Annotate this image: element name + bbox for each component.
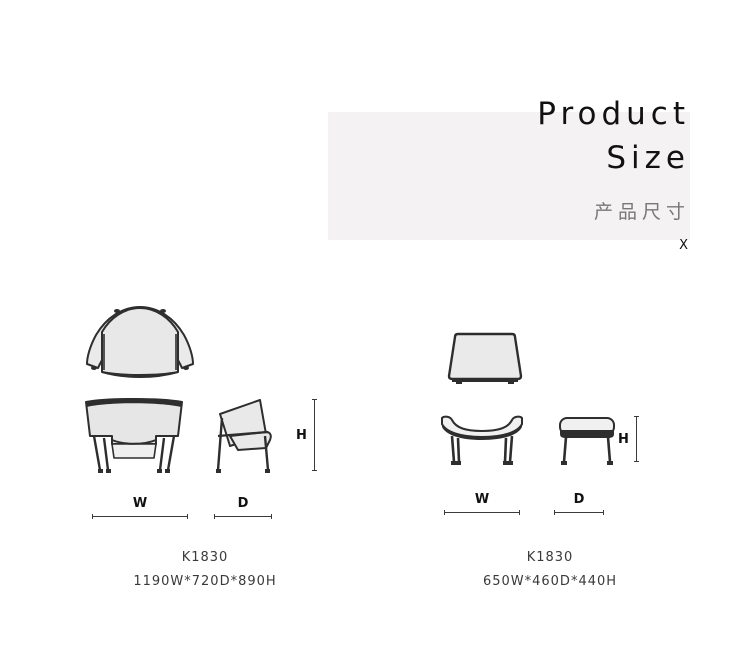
product-block-ottoman-stool: H W D K1830 650W*460D*440H bbox=[430, 300, 670, 510]
lounge-chair-dimensions-text: 1190W*720D*890H bbox=[70, 570, 340, 594]
ottoman-stool-front-view bbox=[436, 412, 528, 468]
ottoman-stool-caption: K1830 650W*460D*440H bbox=[430, 546, 670, 594]
lounge-chair-side-view bbox=[208, 396, 280, 476]
header-text-block: Product Size 产品尺寸 X bbox=[300, 92, 692, 256]
lounge-chair-height-label: H bbox=[296, 428, 307, 443]
page-subtitle-mark: X bbox=[300, 236, 692, 256]
ottoman-stool-width-line bbox=[444, 512, 520, 513]
ottoman-stool-height-label: H bbox=[618, 432, 629, 447]
lounge-chair-width-label: W bbox=[92, 496, 188, 511]
ottoman-stool-height-line bbox=[636, 416, 637, 462]
lounge-chair-model-code: K1830 bbox=[70, 546, 340, 570]
ottoman-stool-front-view-svg bbox=[436, 412, 528, 468]
ottoman-stool-height-dimension: H bbox=[618, 415, 637, 463]
lounge-chair-front-view-svg bbox=[78, 396, 190, 476]
ottoman-stool-views: H bbox=[430, 300, 670, 510]
ottoman-stool-side-view-svg bbox=[552, 412, 622, 468]
ottoman-stool-depth-line bbox=[554, 512, 604, 513]
ottoman-stool-side-view bbox=[552, 412, 622, 468]
lounge-chair-depth-dimension: D bbox=[214, 496, 272, 517]
lounge-chair-width-dimension: W bbox=[92, 496, 188, 517]
lounge-chair-front-view bbox=[78, 396, 190, 476]
ottoman-stool-top-view bbox=[442, 330, 528, 386]
lounge-chair-views: H bbox=[70, 300, 340, 510]
page-title-line-2: Size bbox=[300, 136, 692, 180]
ottoman-stool-depth-dimension: D bbox=[554, 492, 604, 513]
ottoman-stool-dimensions-text: 650W*460D*440H bbox=[430, 570, 670, 594]
ottoman-stool-top-view-svg bbox=[442, 330, 528, 386]
lounge-chair-height-dimension: H bbox=[296, 398, 315, 472]
page-title-line-1: Product bbox=[300, 92, 692, 136]
lounge-chair-caption: K1830 1190W*720D*890H bbox=[70, 546, 340, 594]
lounge-chair-width-line bbox=[92, 516, 188, 517]
lounge-chair-top-view-svg bbox=[82, 302, 198, 384]
ottoman-stool-width-label: W bbox=[444, 492, 520, 507]
lounge-chair-top-view bbox=[82, 302, 198, 384]
ottoman-stool-model-code: K1830 bbox=[430, 546, 670, 570]
lounge-chair-depth-label: D bbox=[214, 496, 272, 511]
page-subtitle-chinese: 产品尺寸 bbox=[300, 192, 692, 232]
lounge-chair-side-view-svg bbox=[208, 396, 280, 476]
lounge-chair-height-line bbox=[314, 399, 315, 471]
ottoman-stool-depth-label: D bbox=[554, 492, 604, 507]
product-block-lounge-chair: H W D K1830 1190W*720D*890H bbox=[70, 300, 340, 510]
ottoman-stool-width-dimension: W bbox=[444, 492, 520, 513]
lounge-chair-depth-line bbox=[214, 516, 272, 517]
